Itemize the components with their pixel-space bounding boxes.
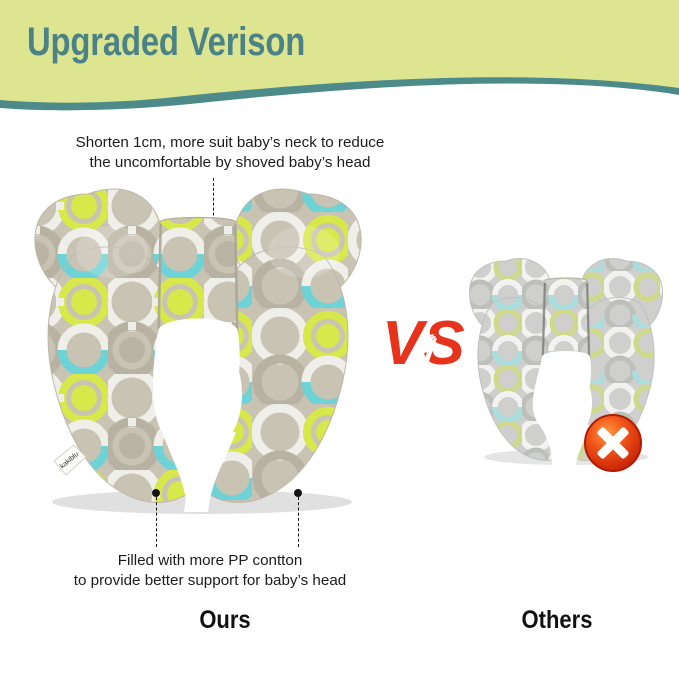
top-annotation-text: Shorten 1cm, more suit baby’s neck to re…	[0, 133, 460, 173]
bottom-annotation-line-1: Filled with more PP contton	[0, 551, 420, 571]
label-ours: Ours	[155, 606, 296, 635]
top-annotation-line-1: Shorten 1cm, more suit baby’s neck to re…	[0, 133, 460, 153]
bottom-annotation-line-2: to provide better support for baby’s hea…	[0, 571, 420, 591]
page-title: Upgraded Verison	[27, 22, 305, 62]
bottom-annotation-text: Filled with more PP contton to provide b…	[0, 551, 420, 591]
leader-line-bottom-right	[298, 497, 299, 547]
leader-line-bottom-left	[156, 497, 157, 547]
leader-dot-lobe-right	[294, 489, 302, 497]
label-others: Others	[487, 606, 628, 635]
header-banner: Upgraded Verison	[0, 0, 679, 120]
product-comparison-image: Upgraded Verison Shorten 1cm, more suit …	[0, 0, 679, 679]
vs-graphic: VS	[378, 296, 474, 384]
leader-dot-lobe-left	[152, 489, 160, 497]
reject-x-badge	[582, 412, 644, 474]
brand-tag: kakiblu	[48, 441, 92, 481]
top-annotation-line-2: the uncomfortable by shoved baby’s head	[0, 153, 460, 173]
